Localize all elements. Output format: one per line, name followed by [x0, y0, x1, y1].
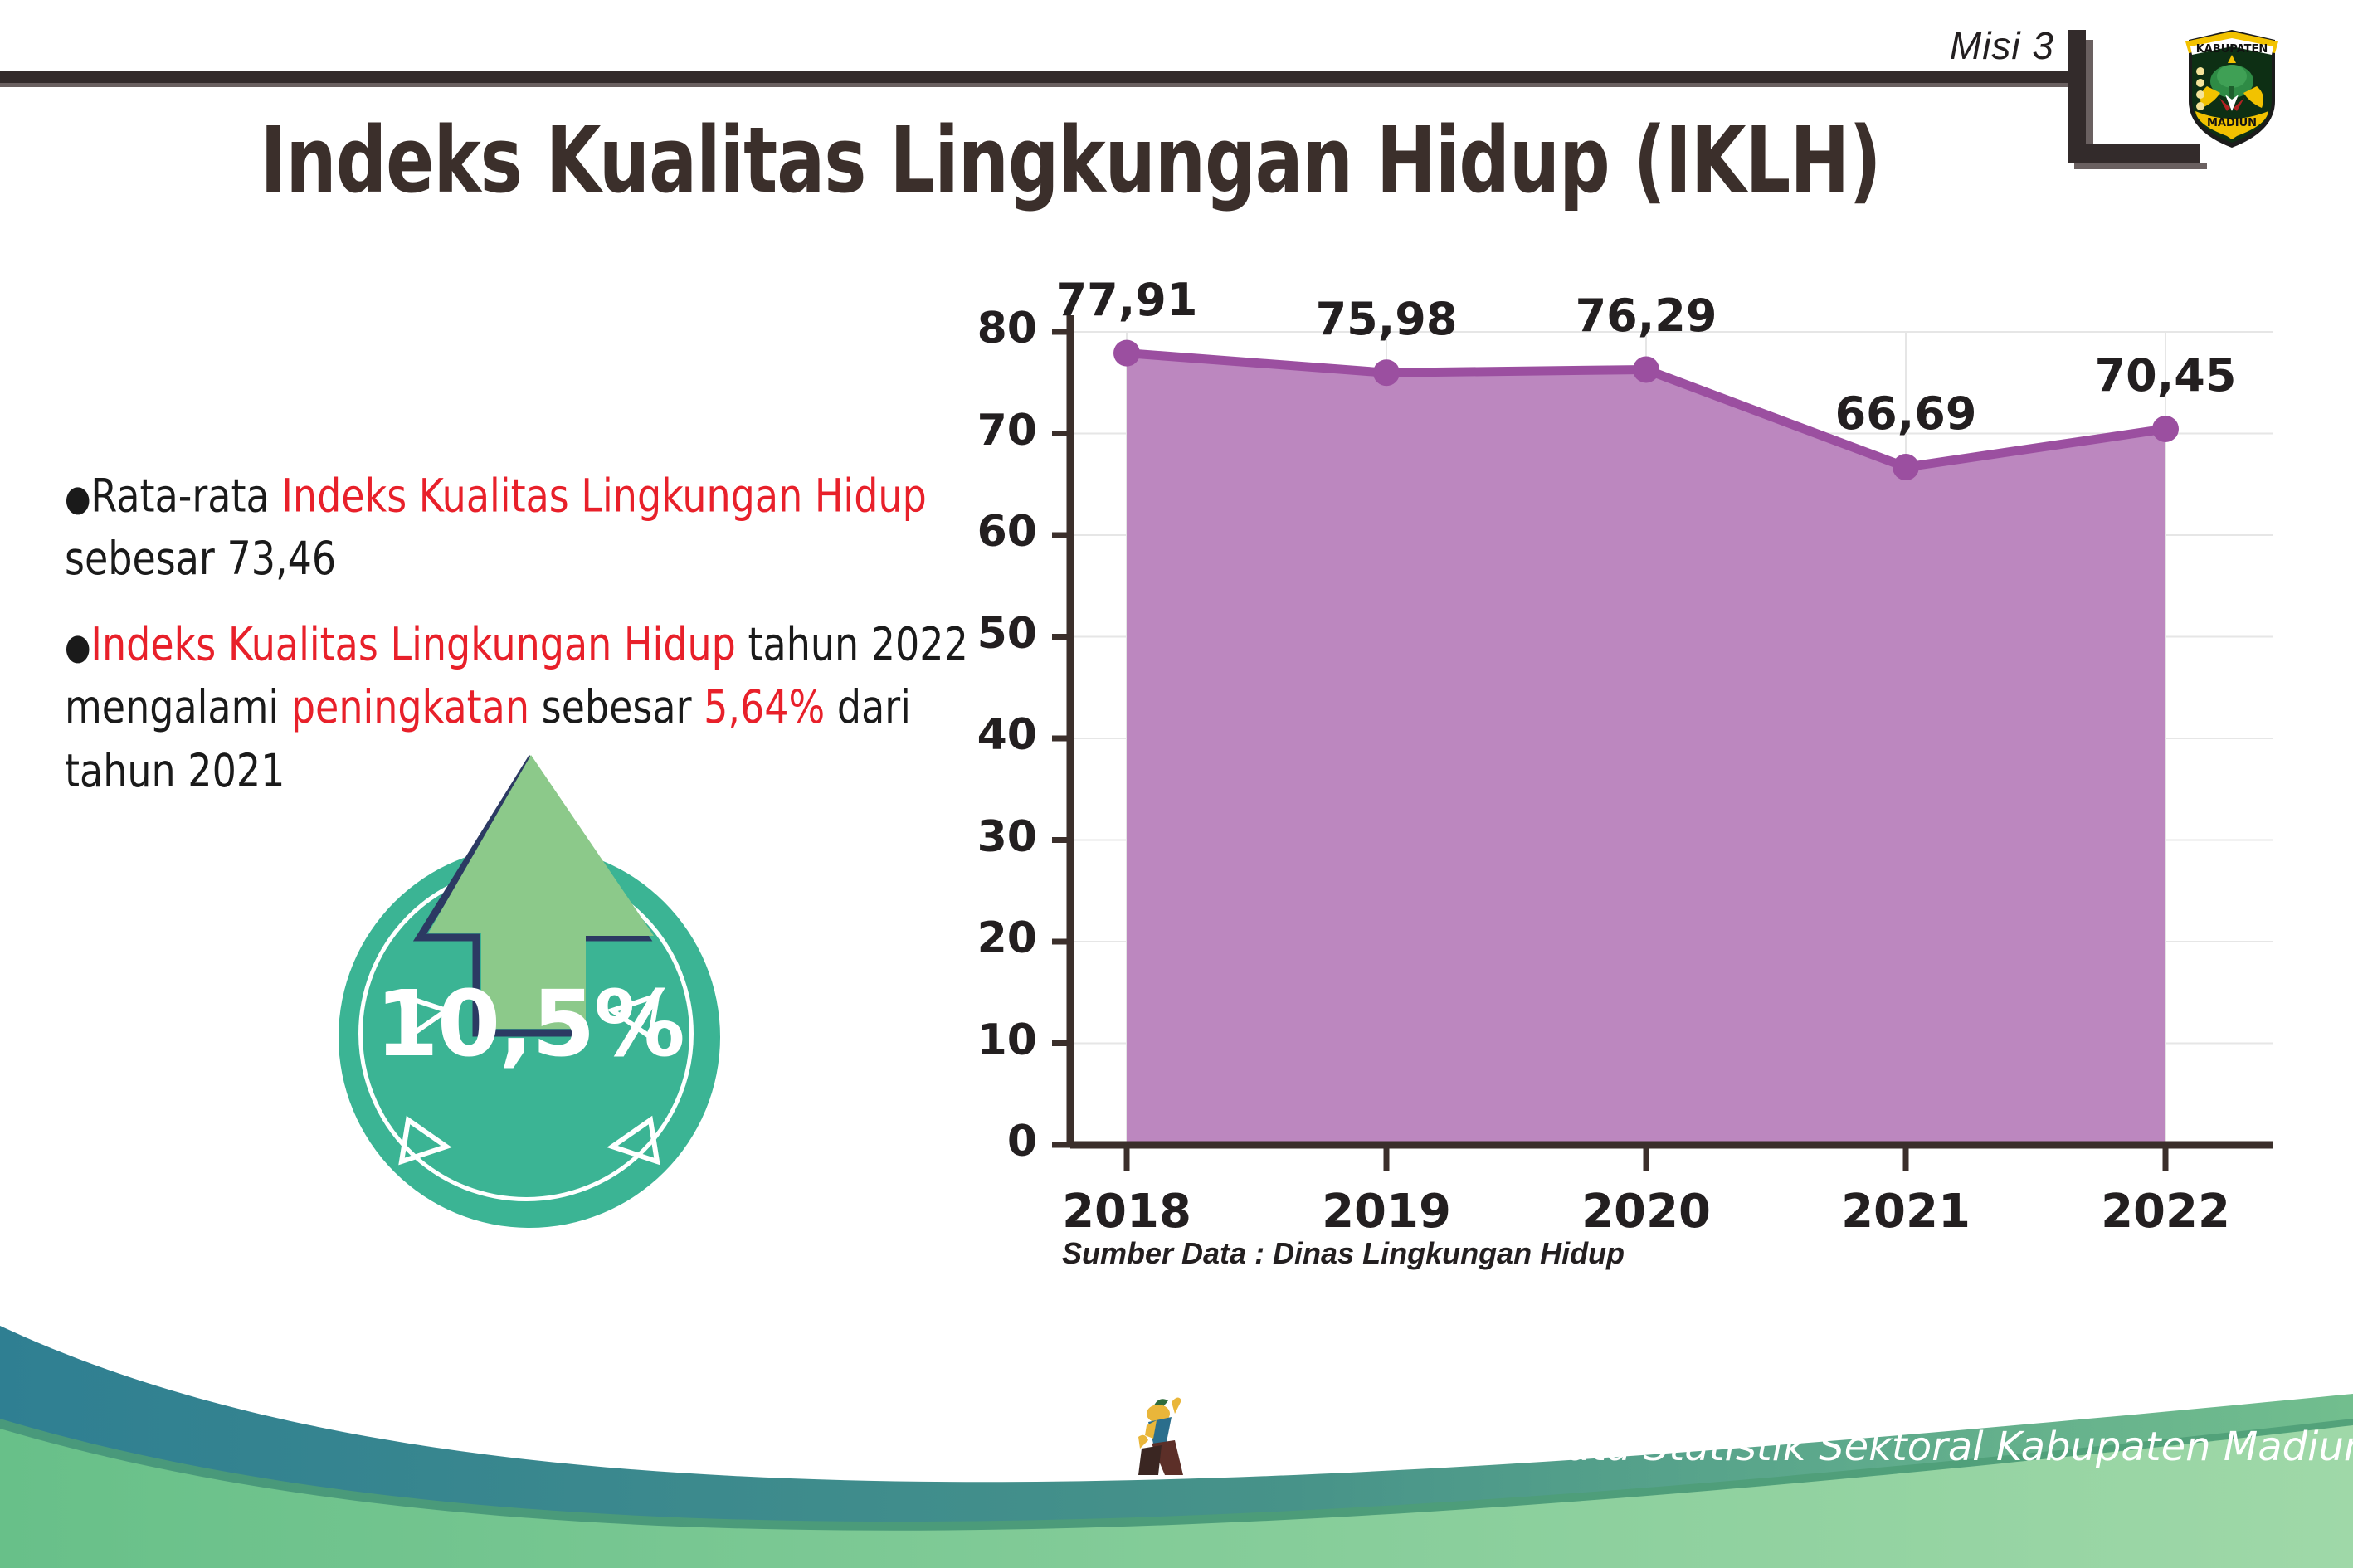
data-value-label: 66,69	[1798, 387, 2014, 440]
y-axis-tick-label: 20	[938, 913, 1037, 963]
x-axis-tick-label: 2020	[1547, 1185, 1746, 1239]
source-note: Sumber Data : Dinas Lingkungan Hidup	[1062, 1236, 1625, 1271]
bullet-highlight: 5,64%	[704, 680, 825, 734]
area-series	[1127, 353, 2165, 1145]
x-axis-tick-label: 2021	[1806, 1185, 2005, 1239]
y-axis-tick-label: 30	[938, 812, 1037, 862]
kabupaten-madiun-crest-icon: KABUPATEN MADIUN	[2174, 22, 2290, 154]
bullet-highlight: Indeks Kualitas Lingkungan Hidup	[281, 469, 926, 523]
bullet-item: ●Rata-rata Indeks Kualitas Lingkungan Hi…	[65, 465, 986, 591]
growth-badge: 10,5%	[322, 747, 770, 1228]
iklh-area-chart: 01020304050607080 20182019202020212022 7…	[979, 299, 2290, 1228]
header-rule-shadow	[0, 83, 2068, 87]
page-title: Indeks Kualitas Lingkungan Hidup (IKLH)	[0, 108, 2141, 214]
x-axis-tick-label: 2022	[2066, 1185, 2265, 1239]
misi-label: Misi 3	[1950, 23, 2054, 68]
data-value-label: 77,91	[1019, 274, 1235, 326]
y-axis-tick-label: 10	[938, 1015, 1037, 1065]
y-axis-tick-label: 0	[938, 1117, 1037, 1166]
crest-top-text: KABUPATEN	[2196, 43, 2268, 56]
header-rule	[0, 71, 2068, 83]
bullet-highlight: peningkatan	[291, 680, 529, 734]
x-axis-tick-label: 2018	[1027, 1185, 1226, 1239]
x-axis-tick-label: 2019	[1287, 1185, 1486, 1239]
data-value-label: 76,29	[1538, 290, 1754, 342]
badge-percent-value: 10,5%	[339, 971, 720, 1077]
data-value-label: 75,98	[1279, 293, 1494, 345]
bullet-text: sebesar 73,46	[65, 532, 336, 586]
statistik-figure-logo-icon	[1128, 1389, 1203, 1480]
footer-caption: Media Infografis Data Statistik Sektoral…	[1203, 1424, 2353, 1470]
bullet-text: sebesar	[529, 680, 704, 734]
bullet-highlight: Indeks Kualitas Lingkungan Hidup	[90, 617, 735, 671]
data-value-label: 70,45	[2058, 349, 2273, 402]
chart-plot	[979, 299, 2290, 1228]
bullet-text: Rata-rata	[90, 469, 281, 523]
y-axis-tick-label: 60	[938, 507, 1037, 557]
y-axis-tick-label: 40	[938, 710, 1037, 760]
y-axis-tick-label: 70	[938, 406, 1037, 455]
y-axis-tick-label: 50	[938, 609, 1037, 659]
crest-bottom-text: MADIUN	[2207, 117, 2257, 129]
